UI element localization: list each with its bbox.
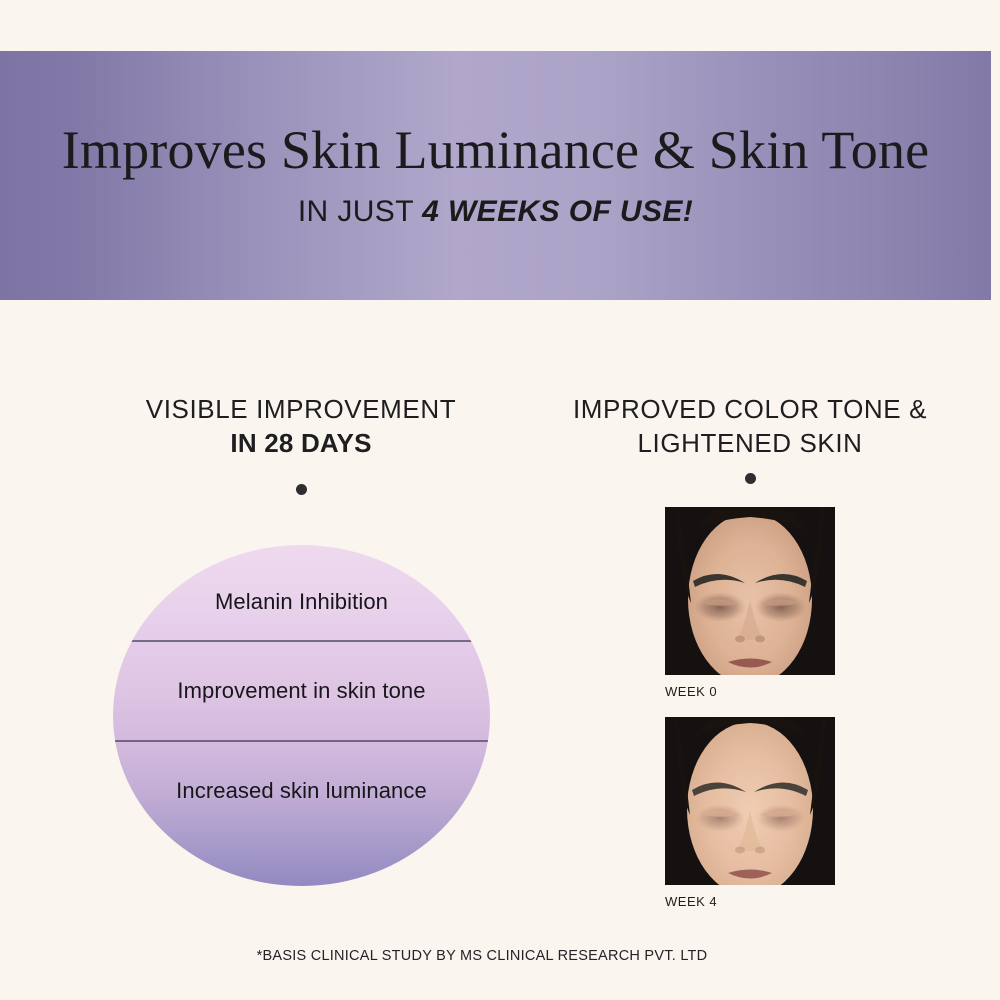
benefits-divider <box>113 740 490 742</box>
banner-subtitle-prefix: IN JUST <box>298 195 422 228</box>
clinical-study-footnote: *BASIS CLINICAL STUDY BY MS CLINICAL RES… <box>0 948 1000 964</box>
right-heading-line-2: LIGHTENED SKIN <box>550 426 950 460</box>
before-treatment-face-photo <box>665 507 835 675</box>
before-photo-caption: WEEK 0 <box>665 684 835 699</box>
benefits-divider <box>113 640 490 642</box>
after-photo-caption: WEEK 4 <box>665 894 835 909</box>
banner-subtitle: IN JUST 4 WEEKS OF USE! <box>298 195 693 229</box>
after-photo <box>665 717 835 885</box>
before-photo-block: WEEK 0 <box>665 507 835 699</box>
benefit-row-skin-tone: Improvement in skin tone <box>113 675 490 706</box>
benefits-circle: Melanin Inhibition Improvement in skin t… <box>113 545 490 886</box>
banner-subtitle-emphasis: 4 WEEKS OF USE! <box>422 195 693 228</box>
before-photo <box>665 507 835 675</box>
hero-banner: Improves Skin Luminance & Skin Tone IN J… <box>0 51 991 300</box>
bullet-dot-icon-left <box>296 484 307 495</box>
left-heading-line-2: IN 28 DAYS <box>101 426 501 460</box>
bullet-dot-icon-right <box>745 473 756 484</box>
left-column-heading: VISIBLE IMPROVEMENT IN 28 DAYS <box>101 392 501 461</box>
right-heading-line-1: IMPROVED COLOR TONE & <box>550 392 950 426</box>
after-treatment-face-photo <box>665 717 835 885</box>
benefit-row-melanin-inhibition: Melanin Inhibition <box>113 586 490 617</box>
after-photo-block: WEEK 4 <box>665 717 835 909</box>
hero-banner-content: Improves Skin Luminance & Skin Tone IN J… <box>0 51 991 300</box>
benefit-row-skin-luminance: Increased skin luminance <box>113 775 490 806</box>
left-heading-line-1: VISIBLE IMPROVEMENT <box>101 392 501 426</box>
page-title: Improves Skin Luminance & Skin Tone <box>62 122 930 179</box>
right-column-heading: IMPROVED COLOR TONE & LIGHTENED SKIN <box>550 392 950 461</box>
benefits-circle-rows: Melanin Inhibition Improvement in skin t… <box>113 545 490 886</box>
